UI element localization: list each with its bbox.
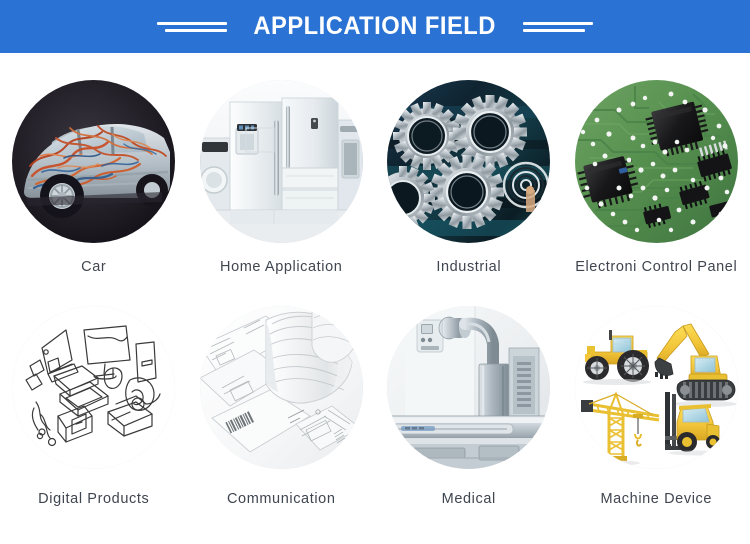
- green-pcb-circuit-board-icon: [575, 80, 738, 243]
- car-image-circle: [12, 80, 175, 243]
- machine-device-image-circle: [575, 306, 738, 469]
- grid-item-industrial[interactable]: Industrial: [375, 53, 563, 290]
- grid-item-medical[interactable]: Medical: [375, 290, 563, 530]
- consumer-electronics-line-drawing-icon: [12, 306, 175, 469]
- application-field-grid: Car: [0, 53, 750, 544]
- item-label-machine-device: Machine Device: [600, 491, 712, 507]
- grid-item-car[interactable]: Car: [0, 53, 188, 290]
- industrial-image-circle: [387, 80, 550, 243]
- page-header-banner: APPLICATION FIELD: [0, 0, 750, 53]
- item-label-medical: Medical: [442, 491, 496, 507]
- item-label-electronic-control-panel: Electroni Control Panel: [575, 259, 737, 275]
- item-label-digital-products: Digital Products: [38, 491, 149, 507]
- metal-gears-icon: [387, 80, 550, 243]
- refrigerator-appliance-icon: [200, 80, 363, 243]
- item-label-home-application: Home Application: [220, 259, 342, 275]
- item-label-car: Car: [81, 259, 106, 275]
- telecom-blueprint-line-drawing-icon: [200, 306, 363, 469]
- item-label-industrial: Industrial: [436, 259, 501, 275]
- grid-item-machine-device[interactable]: Machine Device: [563, 290, 750, 530]
- communication-image-circle: [200, 306, 363, 469]
- page-title: APPLICATION FIELD: [254, 14, 497, 39]
- header-right-decoration-lines: [523, 20, 593, 34]
- home-application-image-circle: [200, 80, 363, 243]
- digital-products-image-circle: [12, 306, 175, 469]
- grid-item-communication[interactable]: Communication: [188, 290, 376, 530]
- medical-image-circle: [387, 306, 550, 469]
- grid-item-home-application[interactable]: Home Application: [188, 53, 376, 290]
- grid-item-electronic-control-panel[interactable]: Electroni Control Panel: [563, 53, 750, 290]
- grid-item-digital-products[interactable]: Digital Products: [0, 290, 188, 530]
- car-wiring-harness-icon: [12, 80, 175, 243]
- header-left-decoration-lines: [157, 20, 227, 34]
- item-label-communication: Communication: [227, 491, 336, 507]
- electronic-control-panel-image-circle: [575, 80, 738, 243]
- application-field-page: APPLICATION FIELD: [0, 0, 750, 544]
- xray-machine-icon: [387, 306, 550, 469]
- construction-vehicles-icon: [575, 306, 738, 469]
